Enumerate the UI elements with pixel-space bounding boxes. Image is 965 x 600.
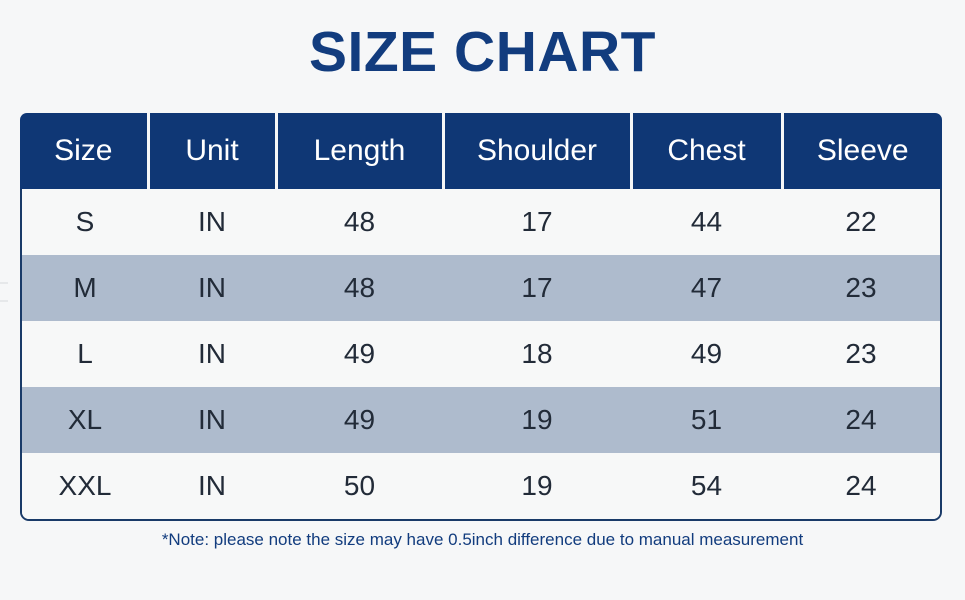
column-header-shoulder: Shoulder (443, 113, 631, 189)
cell-shoulder: 18 (443, 321, 631, 387)
cell-sleeve: 24 (782, 453, 940, 519)
cell-chest: 51 (631, 387, 782, 453)
size-chart-body-table: S IN 48 17 44 22 M IN 48 17 47 23 (22, 189, 940, 519)
cell-sleeve: 24 (782, 387, 940, 453)
cell-size: XXL (22, 453, 148, 519)
cell-length: 49 (276, 321, 443, 387)
cell-size: L (22, 321, 148, 387)
column-header-unit: Unit (148, 113, 276, 189)
cell-shoulder: 17 (443, 189, 631, 255)
cell-shoulder: 19 (443, 387, 631, 453)
size-chart-page: SIZE CHART Size Unit Length Shoulder Che… (0, 0, 965, 600)
cell-sleeve: 23 (782, 321, 940, 387)
page-title: SIZE CHART (0, 16, 965, 88)
table-row: S IN 48 17 44 22 (22, 189, 940, 255)
size-chart-header-table: Size Unit Length Shoulder Chest Sleeve (20, 113, 942, 189)
column-header-length: Length (276, 113, 443, 189)
cell-size: M (22, 255, 148, 321)
cell-length: 48 (276, 255, 443, 321)
table-row: M IN 48 17 47 23 (22, 255, 940, 321)
cell-size: XL (22, 387, 148, 453)
table-row: L IN 49 18 49 23 (22, 321, 940, 387)
cell-length: 49 (276, 387, 443, 453)
cell-shoulder: 19 (443, 453, 631, 519)
column-header-chest: Chest (631, 113, 782, 189)
cell-sleeve: 22 (782, 189, 940, 255)
cell-unit: IN (148, 453, 276, 519)
cell-length: 48 (276, 189, 443, 255)
cell-length: 50 (276, 453, 443, 519)
cell-unit: IN (148, 321, 276, 387)
cell-unit: IN (148, 189, 276, 255)
size-chart-body-frame: S IN 48 17 44 22 M IN 48 17 47 23 (20, 189, 942, 521)
table-row: XXL IN 50 19 54 24 (22, 453, 940, 519)
measurement-note: *Note: please note the size may have 0.5… (0, 530, 965, 550)
cell-unit: IN (148, 387, 276, 453)
cell-shoulder: 17 (443, 255, 631, 321)
cell-sleeve: 23 (782, 255, 940, 321)
cell-chest: 49 (631, 321, 782, 387)
cell-chest: 54 (631, 453, 782, 519)
edge-artifact-mark (0, 282, 8, 284)
column-header-sleeve: Sleeve (782, 113, 942, 189)
table-header-row: Size Unit Length Shoulder Chest Sleeve (20, 113, 942, 189)
size-chart-table-wrapper: Size Unit Length Shoulder Chest Sleeve (20, 113, 942, 521)
cell-unit: IN (148, 255, 276, 321)
edge-artifact-mark (0, 300, 8, 302)
cell-chest: 47 (631, 255, 782, 321)
table-row: XL IN 49 19 51 24 (22, 387, 940, 453)
column-header-size: Size (20, 113, 148, 189)
cell-chest: 44 (631, 189, 782, 255)
cell-size: S (22, 189, 148, 255)
